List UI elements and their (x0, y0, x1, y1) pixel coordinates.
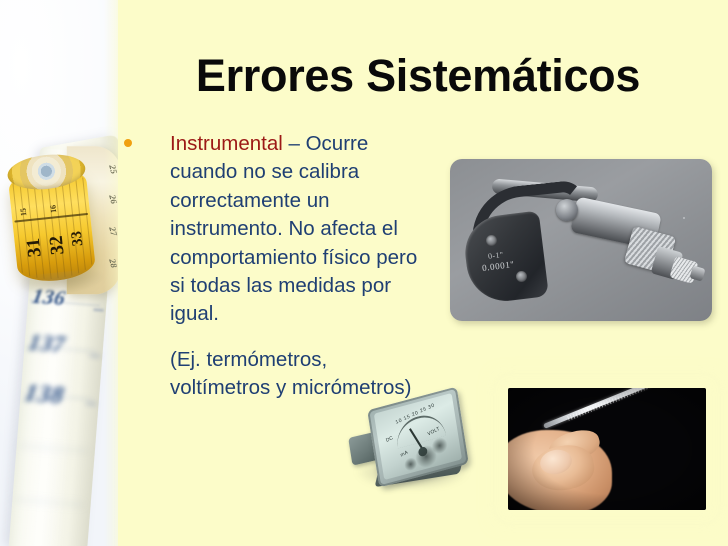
micrometer-speck (683, 217, 685, 219)
micrometer-marking-top: 0-1" (488, 250, 505, 261)
tape-roll-small-number: 15 (19, 208, 29, 217)
micrometer-lock-nut (556, 199, 578, 221)
term-instrumental: Instrumental (170, 132, 283, 155)
panel-edge-feather (104, 0, 118, 546)
tape-roll-number: 32 (46, 235, 70, 256)
tape-number: 137 (26, 330, 67, 359)
hand-holding-probe-photo (508, 388, 706, 510)
paragraph-instrumental: Instrumental – Ocurre cuando no se calib… (170, 130, 428, 329)
page-title: Errores Sistemáticos (118, 52, 718, 99)
tape-number: 138 (22, 380, 66, 411)
micrometer-photo: 0-1" 0.0001" (450, 159, 712, 321)
term-dash: – (283, 132, 306, 155)
voltmeter-dial-face: 10 15 20 25 30 DC VOLT mA (374, 393, 462, 480)
voltmeter-label-left: DC (385, 435, 394, 444)
tape-roll-small-number: 16 (48, 205, 58, 214)
slide-canvas: 133 134 135 136 137 138 25 26 27 28 (0, 0, 728, 546)
paragraph-instrumental-text: Ocurre cuando no se calibra correctament… (170, 132, 417, 325)
micrometer-screw (516, 271, 527, 282)
probe-vignette (508, 388, 706, 510)
analog-voltmeter-photo: 10 15 20 25 30 DC VOLT mA (344, 392, 484, 498)
voltmeter-label-bottom: mA (400, 450, 409, 459)
tape-roll: 25 26 27 28 31 32 33 15 16 (0, 125, 118, 305)
bullet-dot-icon (124, 139, 132, 147)
measuring-tape-photo: 133 134 135 136 137 138 25 26 27 28 (0, 0, 118, 546)
voltmeter-smudge (403, 456, 418, 472)
micrometer-screw (486, 235, 497, 246)
tape-roll-number: 33 (69, 230, 87, 247)
tape-roll-number: 31 (23, 237, 47, 258)
